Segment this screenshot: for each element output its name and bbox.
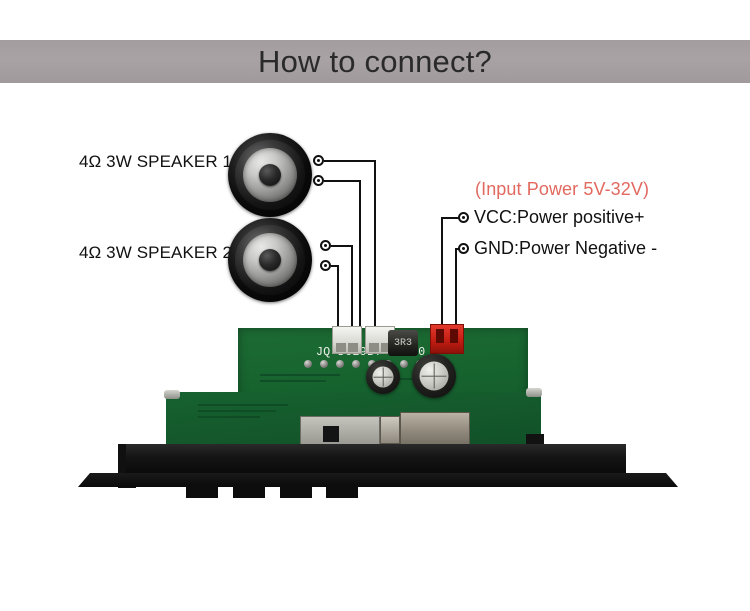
wire-speaker1-negative-h	[324, 180, 361, 182]
solder-pad	[352, 360, 360, 368]
wire-speaker1-positive-v	[374, 160, 376, 332]
faceplate-flange	[78, 473, 678, 487]
capacitor-top	[373, 367, 394, 388]
solder-pad	[400, 360, 408, 368]
amplifier-board: JQ-D029BT-A2. 0	[78, 318, 678, 518]
speaker-1-driver	[228, 133, 312, 217]
faceplate-tab	[233, 486, 265, 498]
connector-slot	[369, 343, 379, 352]
connector-slot	[450, 329, 458, 343]
solder-pad-row	[304, 360, 424, 368]
speaker-2-label: 4Ω 3W SPEAKER 2	[79, 243, 232, 263]
speaker-2-terminal-negative	[320, 260, 331, 271]
speaker-1-terminal-positive	[313, 155, 324, 166]
connection-diagram-page: How to connect? 4Ω 3W SPEAKER 1 4Ω 3W SP…	[0, 0, 750, 611]
inductor: 3R3	[388, 330, 418, 356]
pcb-trace	[260, 380, 326, 382]
electrolytic-capacitor-1	[366, 360, 400, 394]
wire-speaker1-positive-h	[324, 160, 376, 162]
connector-slot	[336, 343, 346, 352]
ic-chip	[323, 426, 339, 442]
mounting-screw-left	[164, 390, 180, 399]
vcc-terminal	[458, 212, 469, 223]
speaker-1-label: 4Ω 3W SPEAKER 1	[79, 152, 232, 172]
wire-vcc-h	[441, 217, 459, 219]
wire-speaker2-positive-h	[331, 245, 353, 247]
vcc-label: VCC:Power positive+	[474, 207, 645, 228]
solder-pad	[320, 360, 328, 368]
capacitor-top	[420, 362, 449, 391]
header-banner: How to connect?	[0, 40, 750, 83]
gnd-label: GND:Power Negative -	[474, 238, 657, 259]
pcb-trace	[198, 416, 260, 418]
pcb-trace	[260, 374, 340, 376]
solder-pad	[304, 360, 312, 368]
power-connector	[430, 324, 464, 354]
speaker-2-terminal-positive	[320, 240, 331, 251]
speaker-1-connector	[332, 326, 362, 354]
connector-slot	[436, 329, 444, 343]
electrolytic-capacitor-2	[412, 354, 456, 398]
wire-vcc-v	[441, 217, 443, 331]
sd-card-slot	[380, 416, 400, 444]
pcb-trace	[198, 404, 288, 406]
pcb-trace	[198, 410, 276, 412]
speaker-dust-cap	[259, 164, 281, 186]
input-power-note: (Input Power 5V-32V)	[475, 179, 649, 200]
page-title: How to connect?	[258, 46, 492, 77]
faceplate-tab	[186, 486, 218, 498]
wire-speaker1-negative-v	[359, 180, 361, 332]
connector-slot	[348, 343, 358, 352]
faceplate-tab	[280, 486, 312, 498]
speaker-1-terminal-negative	[313, 175, 324, 186]
faceplate-tab	[326, 486, 358, 498]
solder-pad	[336, 360, 344, 368]
speaker-dust-cap	[259, 249, 281, 271]
mounting-screw-right	[526, 388, 542, 397]
speaker-2-driver	[228, 218, 312, 302]
